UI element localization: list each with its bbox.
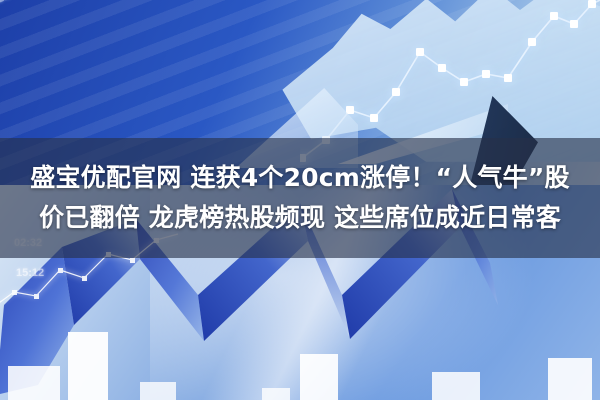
headline-line-2: 价已翻倍 龙虎榜热股频现 这些席位成近日常客 <box>39 198 561 238</box>
headline-overlay-band: 盛宝优配官网 连获4个20cm涨停！“人气牛”股 价已翻倍 龙虎榜热股频现 这些… <box>0 138 600 258</box>
bar-chart-columns <box>0 310 600 400</box>
headline-line-1: 盛宝优配官网 连获4个20cm涨停！“人气牛”股 <box>30 158 569 198</box>
stock-news-banner: -02.36 -11.25 +45.02 -21.05 +4.36 -02.36… <box>0 0 600 400</box>
small-ticker-label: 15:12 <box>16 267 44 279</box>
